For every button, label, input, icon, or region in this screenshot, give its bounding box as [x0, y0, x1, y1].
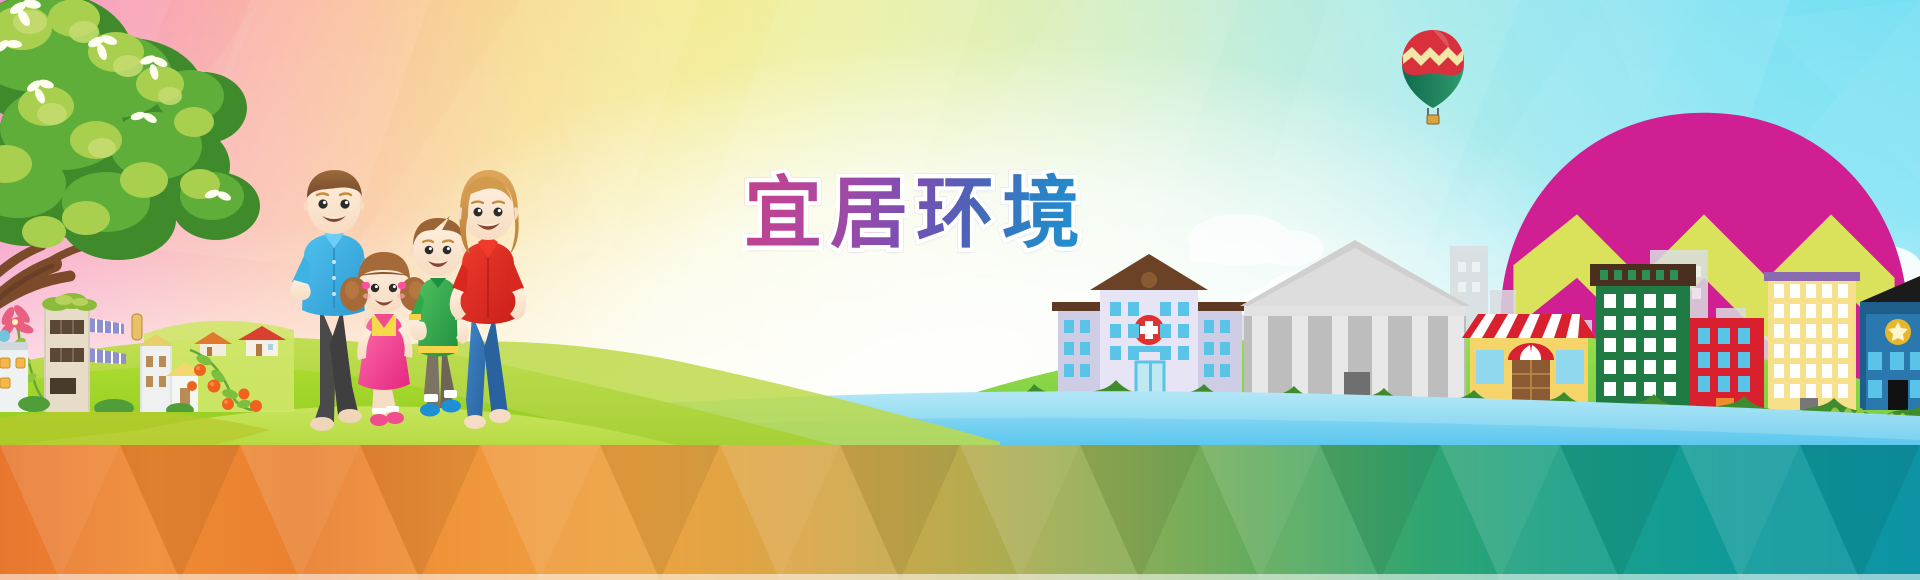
awning: [90, 318, 124, 334]
awning: [90, 348, 126, 364]
banner-title-wrap: 宜居环境 宜居环境: [744, 168, 1184, 264]
family-group: [278, 168, 578, 440]
band-bottom-line: [0, 574, 1920, 580]
banner-root: 宜居环境 宜居环境: [0, 0, 1920, 580]
figure-mother: [450, 170, 527, 429]
bottom-geometric-band: [0, 445, 1920, 580]
page-title: 宜居环境: [744, 168, 1088, 260]
village-houses: [0, 282, 294, 412]
flowering-tree: [0, 0, 288, 318]
hot-air-balloon-large: [1398, 28, 1468, 138]
